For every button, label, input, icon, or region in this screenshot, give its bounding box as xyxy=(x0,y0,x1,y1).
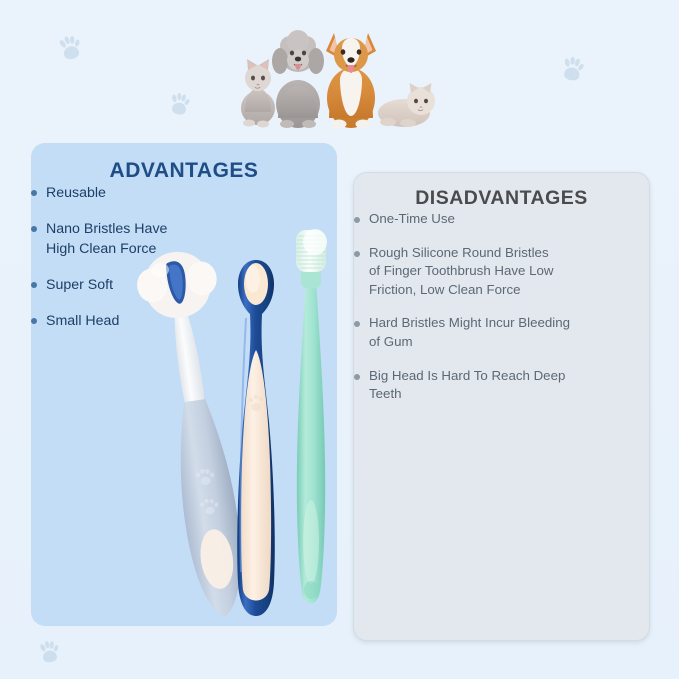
bullet-dot-icon xyxy=(31,190,37,196)
disadvantage-text: Hard Bristles Might Incur Bleeding of Gu… xyxy=(369,314,570,351)
paw-print-top-right xyxy=(558,55,586,85)
navy-nano-bristle-brush xyxy=(237,260,275,616)
bullet-dot-icon xyxy=(31,282,37,288)
advantage-text: Small Head xyxy=(46,311,119,331)
paw-print-bottom-left xyxy=(37,640,61,666)
infographic-canvas: ADVANTAGES Reusable Nano Bristles Have H… xyxy=(0,0,679,679)
list-item: Hard Bristles Might Incur Bleeding of Gu… xyxy=(354,314,606,351)
bullet-dot-icon xyxy=(354,321,360,327)
disadvantages-list: One-Time Use Rough Silicone Round Bristl… xyxy=(354,210,606,404)
disadvantage-text: One-Time Use xyxy=(369,210,455,229)
list-item: One-Time Use xyxy=(354,210,606,229)
bullet-dot-icon xyxy=(31,226,37,232)
disadvantage-text: Big Head Is Hard To Reach Deep Teeth xyxy=(369,367,565,404)
three-toothbrushes xyxy=(110,222,340,622)
advantage-text: Reusable xyxy=(46,183,106,203)
list-item: Big Head Is Hard To Reach Deep Teeth xyxy=(354,367,606,404)
bullet-dot-icon xyxy=(31,318,37,324)
paw-print-upper-mid xyxy=(166,92,191,119)
bullet-dot-icon xyxy=(354,217,360,223)
pet-cream-cat xyxy=(378,83,435,127)
pet-corgi-dog xyxy=(326,33,376,129)
pet-gray-cat xyxy=(241,59,275,128)
disadvantages-panel: DISADVANTAGES One-Time Use Rough Silicon… xyxy=(353,172,650,641)
mint-nano-bristle-brush xyxy=(296,229,327,603)
list-item: Rough Silicone Round Bristles of Finger … xyxy=(354,244,606,300)
pet-gray-poodle xyxy=(272,30,324,128)
disadvantage-text: Rough Silicone Round Bristles of Finger … xyxy=(369,244,554,300)
paw-print-top-left xyxy=(56,34,85,64)
advantage-text: Super Soft xyxy=(46,275,113,295)
bullet-dot-icon xyxy=(354,374,360,380)
disadvantages-title: DISADVANTAGES xyxy=(354,187,649,210)
list-item: Reusable xyxy=(31,183,211,203)
advantages-title: ADVANTAGES xyxy=(31,159,337,183)
pets-group-photo xyxy=(232,8,444,132)
bullet-dot-icon xyxy=(354,251,360,257)
